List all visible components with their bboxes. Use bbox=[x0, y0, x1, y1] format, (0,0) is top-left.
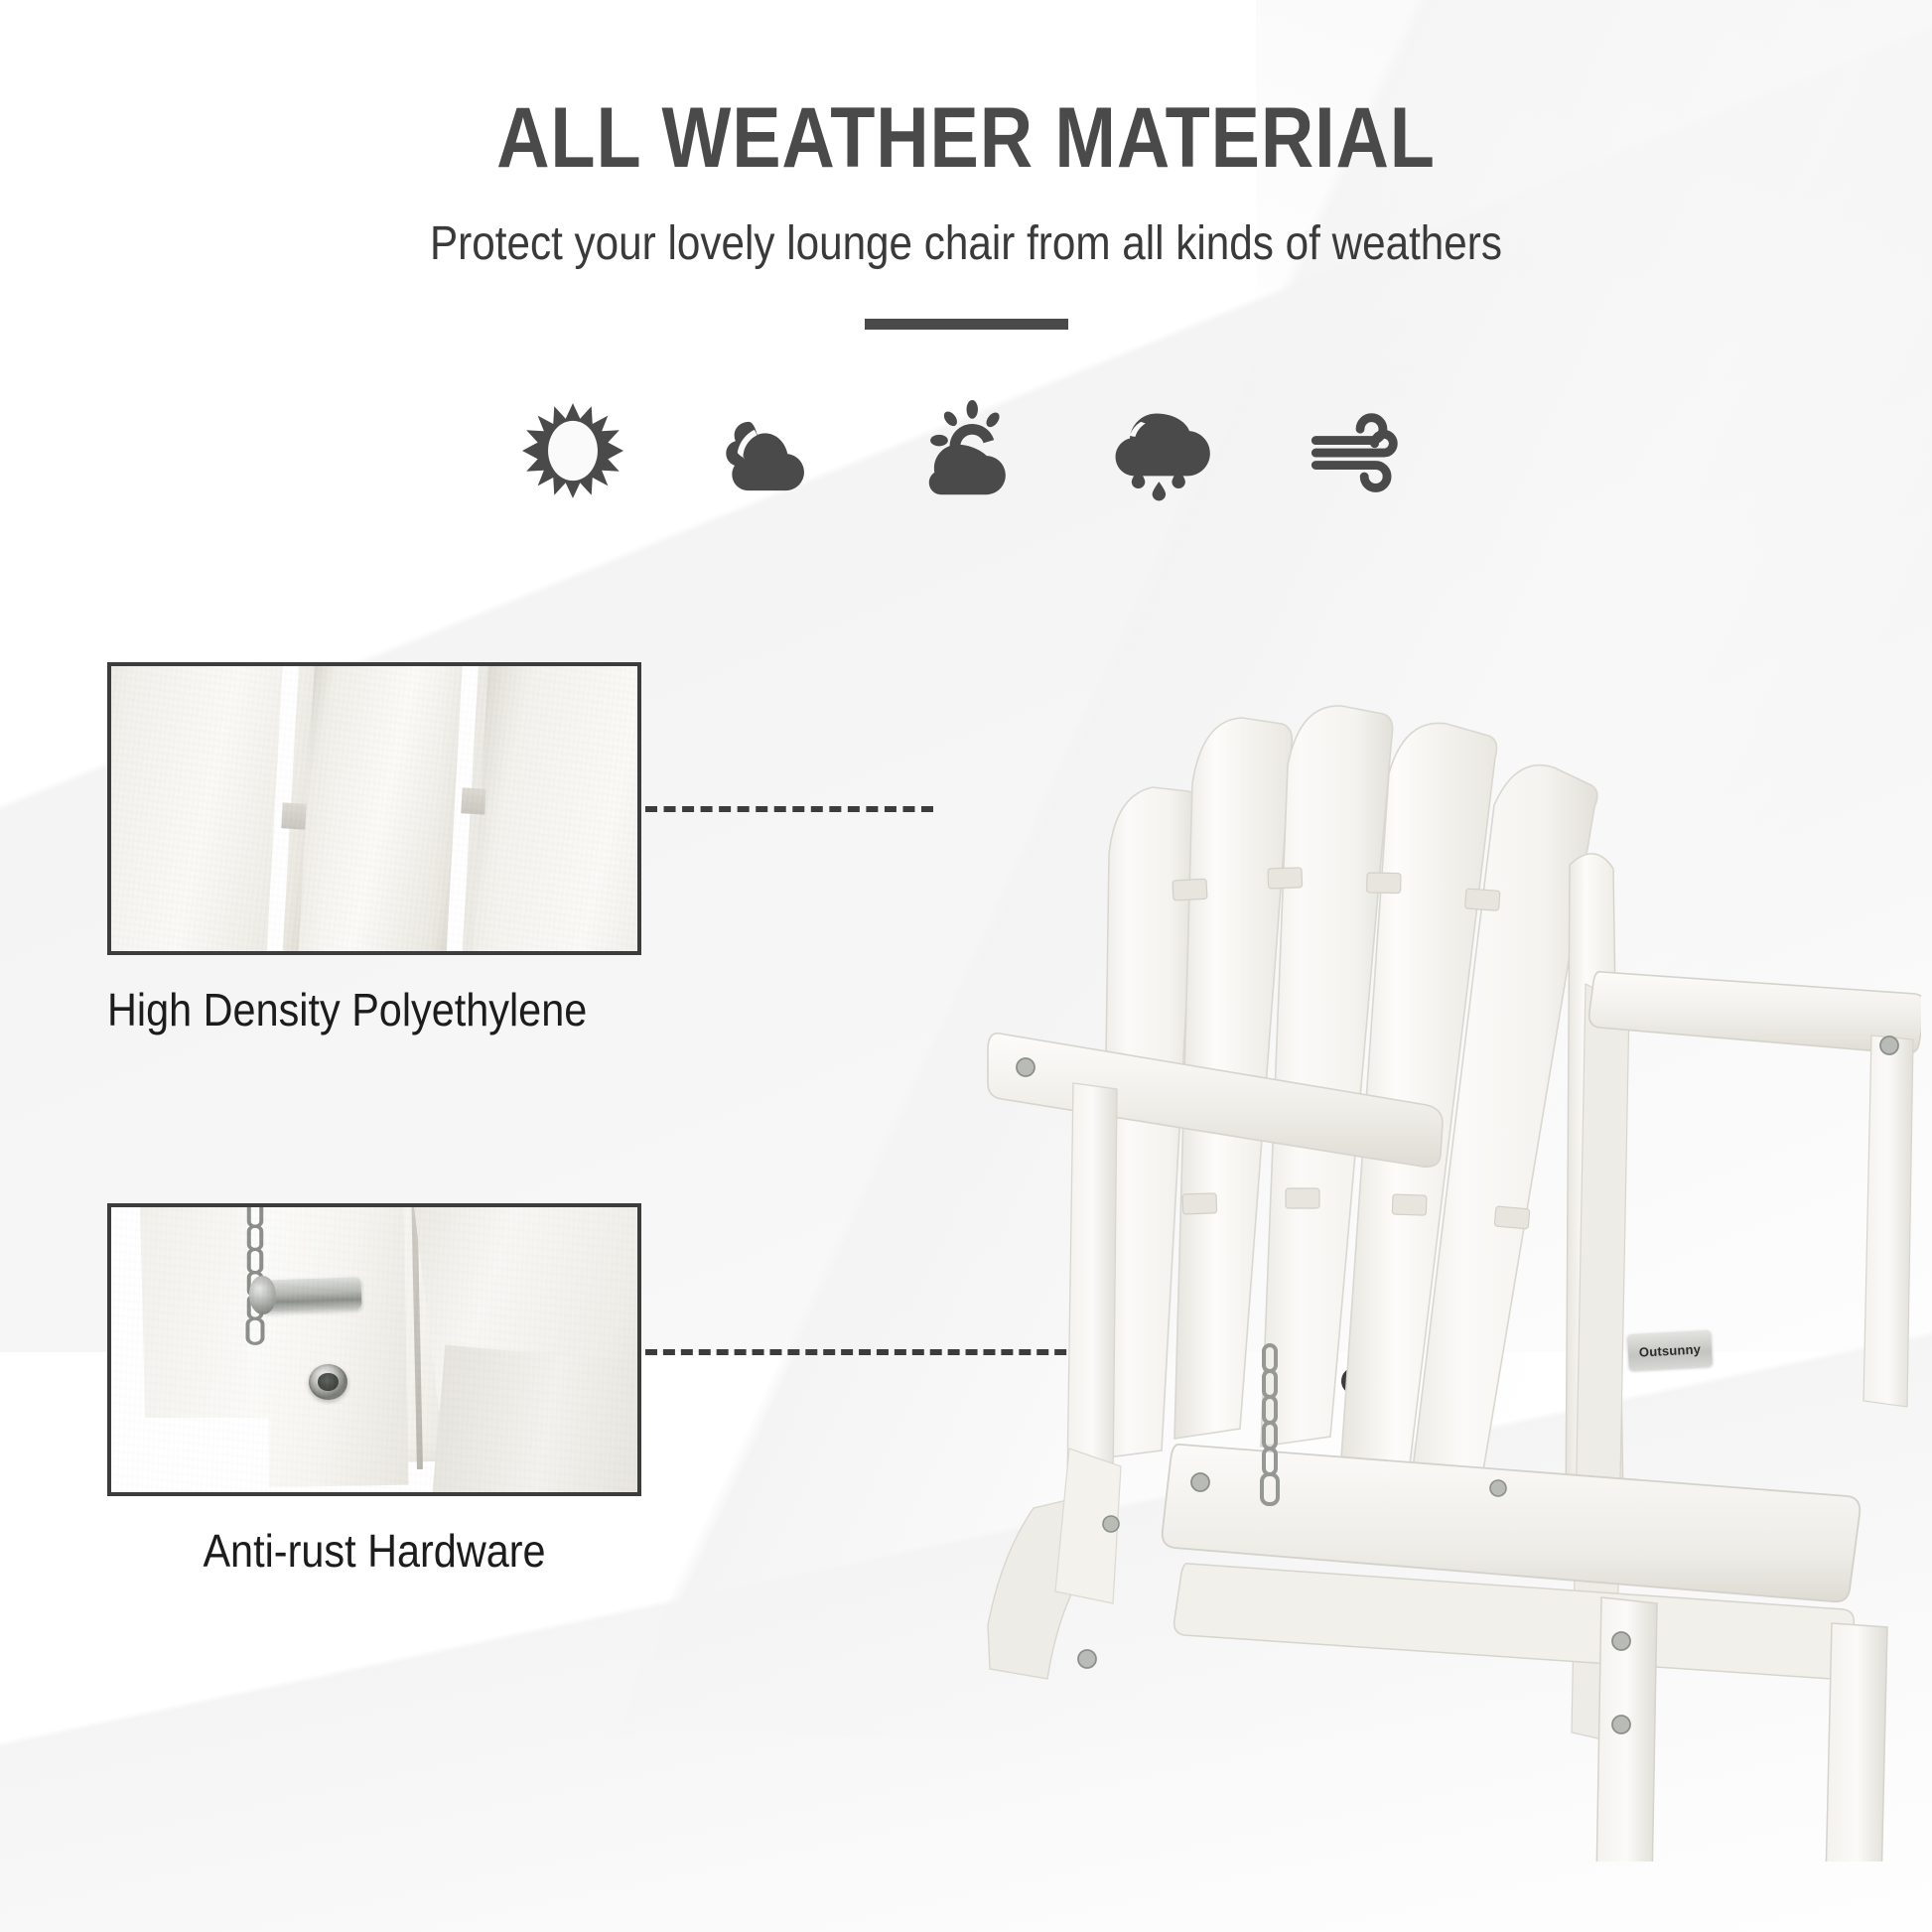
header: ALL WEATHER MATERIAL Protect your lovely… bbox=[0, 0, 1932, 330]
adirondack-chair-image bbox=[978, 571, 1921, 1862]
sun-icon bbox=[519, 397, 626, 504]
page-subtitle: Protect your lovely lounge chair from al… bbox=[116, 181, 1816, 271]
leader-line-material bbox=[645, 806, 933, 812]
hardware-photo bbox=[111, 1207, 637, 1492]
callout-hardware-frame bbox=[107, 1203, 641, 1496]
chair-slat-photo bbox=[111, 666, 637, 951]
brand-label: Outsunny bbox=[1627, 1330, 1713, 1370]
callout-material: High Density Polyethylene bbox=[107, 662, 641, 1035]
infographic-canvas: ALL WEATHER MATERIAL Protect your lovely… bbox=[0, 0, 1932, 1932]
rain-icon bbox=[1109, 397, 1216, 504]
page-title: ALL WEATHER MATERIAL bbox=[135, 0, 1797, 181]
callout-material-caption: High Density Polyethylene bbox=[107, 955, 588, 1035]
weather-icon-row bbox=[0, 397, 1932, 504]
partly-cloudy-icon bbox=[912, 397, 1020, 504]
brand-label-text: Outsunny bbox=[1639, 1341, 1702, 1359]
callout-hardware: Anti-rust Hardware bbox=[107, 1203, 641, 1577]
header-divider bbox=[865, 319, 1068, 330]
callout-hardware-caption: Anti-rust Hardware bbox=[134, 1496, 615, 1577]
cloudy-icon bbox=[716, 397, 823, 504]
wind-icon bbox=[1306, 397, 1413, 504]
callout-material-frame bbox=[107, 662, 641, 955]
